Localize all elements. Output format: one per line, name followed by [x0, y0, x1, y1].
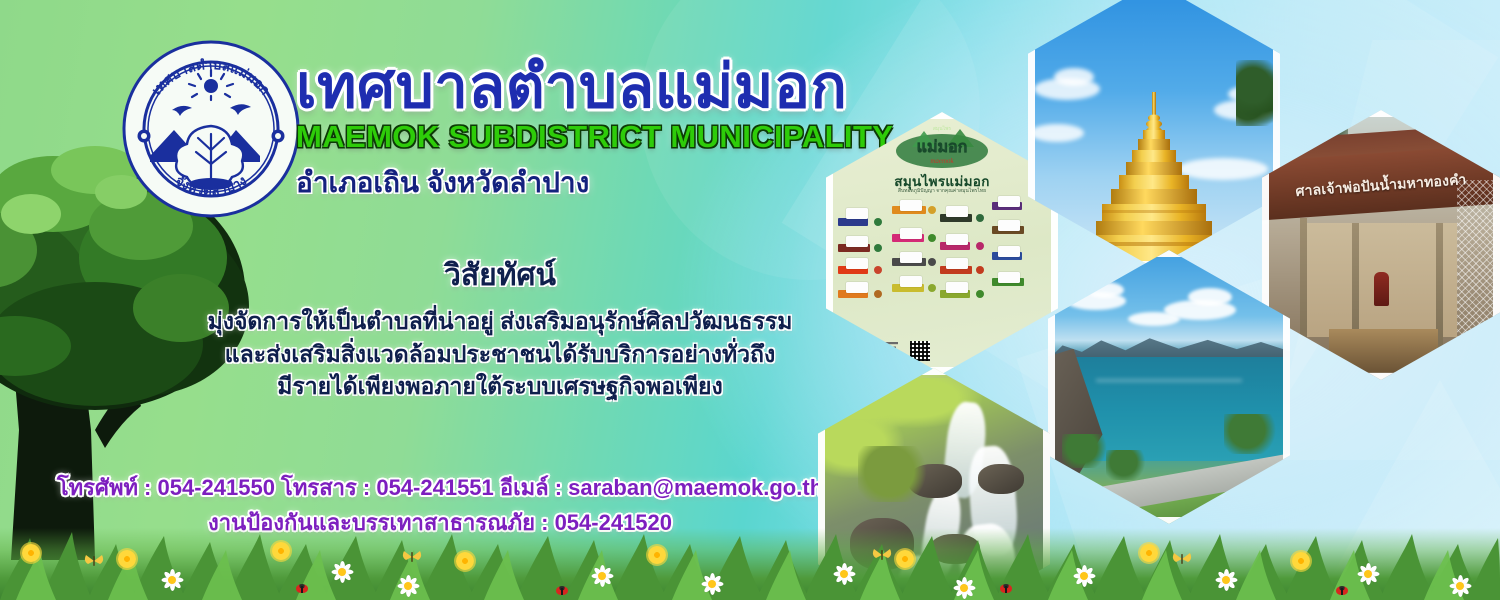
golden-pagoda: [1091, 92, 1217, 268]
vision-line-1: มุ่งจัดการให้เป็นตำบลที่น่าอยู่ ส่งเสริม…: [150, 305, 850, 338]
tree-foliage-icon: [1236, 60, 1278, 126]
yellow-flower: [648, 546, 666, 564]
herb-contact-legend: [862, 342, 902, 358]
herb-logo-small: สมุนไพร: [933, 125, 952, 132]
hex-photo-shrine[interactable]: ศาลเจ้าพ่อปันน้ำมหาทองคำ: [1262, 110, 1500, 380]
contact-phone-fax-email[interactable]: โทรศัพท์ : 054-241550 โทรสาร : 054-24155…: [40, 470, 840, 505]
daisy-flower: [590, 564, 614, 588]
ladybug-icon: [1336, 586, 1348, 595]
hex-photo-reservoir[interactable]: [1048, 250, 1290, 524]
herb-logo-roman: maemok: [930, 157, 954, 165]
daisy-flower: [1448, 574, 1472, 598]
pagoda-caption-1: วัดพ...: [1242, 0, 1274, 3]
municipal-seal: เทศบาลตำบลแม่มอก จังหวัดลำปาง: [120, 38, 302, 220]
butterfly-icon: [84, 554, 104, 568]
vision-line-2: และส่งเสริมสิ่งแวดล้อมประชาชนได้รับบริกา…: [150, 338, 850, 371]
shrine-mesh-grill: [1457, 180, 1495, 337]
water-highlight: [1096, 379, 1241, 382]
yellow-flower: [118, 550, 136, 568]
pagoda-caption-3: อำเภ...: [1246, 12, 1264, 22]
page-title-english: MAEMOK SUBDISTRICT MUNICIPALITY: [296, 119, 956, 155]
qr-code[interactable]: [910, 341, 930, 361]
vision-line-3: มีรายได้เพียงพอภายใต้ระบบเศรษฐกิจพอเพียง: [150, 370, 850, 403]
hex-photo-pagoda[interactable]: วัดพ... บ้านกุ่... อำเภ...: [1028, 0, 1280, 268]
daisy-flower: [832, 562, 856, 586]
herb-logo-text: แม่มอก: [917, 137, 968, 156]
shrine-altar-table: [1329, 329, 1438, 372]
daisy-flower: [1214, 568, 1238, 592]
yellow-flower: [456, 552, 474, 570]
shrine-statue: [1374, 272, 1389, 306]
grass-blades: [0, 528, 1500, 600]
ladybug-icon: [1000, 584, 1012, 593]
page-title-thai: เทศบาลตำบลแม่มอก: [296, 56, 956, 117]
daisy-flower: [700, 572, 724, 596]
vision-statement: วิสัยทัศน์ มุ่งจัดการให้เป็นตำบลที่น่าอย…: [150, 252, 850, 403]
daisy-flower: [396, 574, 420, 598]
yellow-flower: [896, 550, 914, 568]
daisy-flower: [160, 568, 184, 592]
daisy-flower: [1356, 562, 1380, 586]
grass-footer: [0, 528, 1500, 600]
yellow-flower: [1140, 544, 1158, 562]
yellow-flower: [22, 544, 40, 562]
yellow-flower: [1292, 552, 1310, 570]
ladybug-icon: [296, 584, 308, 593]
ladybug-icon: [556, 586, 568, 595]
yellow-flower: [272, 542, 290, 560]
herb-product-grid: [836, 200, 1050, 320]
daisy-flower: [1072, 564, 1096, 588]
butterfly-icon: [1172, 552, 1192, 566]
butterfly-icon: [402, 550, 422, 564]
daisy-flower: [330, 560, 354, 584]
daisy-flower: [952, 576, 976, 600]
mountain-range: [1048, 332, 1290, 359]
butterfly-icon: [872, 548, 892, 562]
herb-poster-subtitle: สืบทอดภูมิปัญญา จากคุณค่าสมุนไพรไทย: [826, 187, 1058, 195]
vision-heading: วิสัยทัศน์: [150, 252, 850, 299]
pagoda-caption-2: บ้านกุ่...: [1245, 2, 1268, 13]
